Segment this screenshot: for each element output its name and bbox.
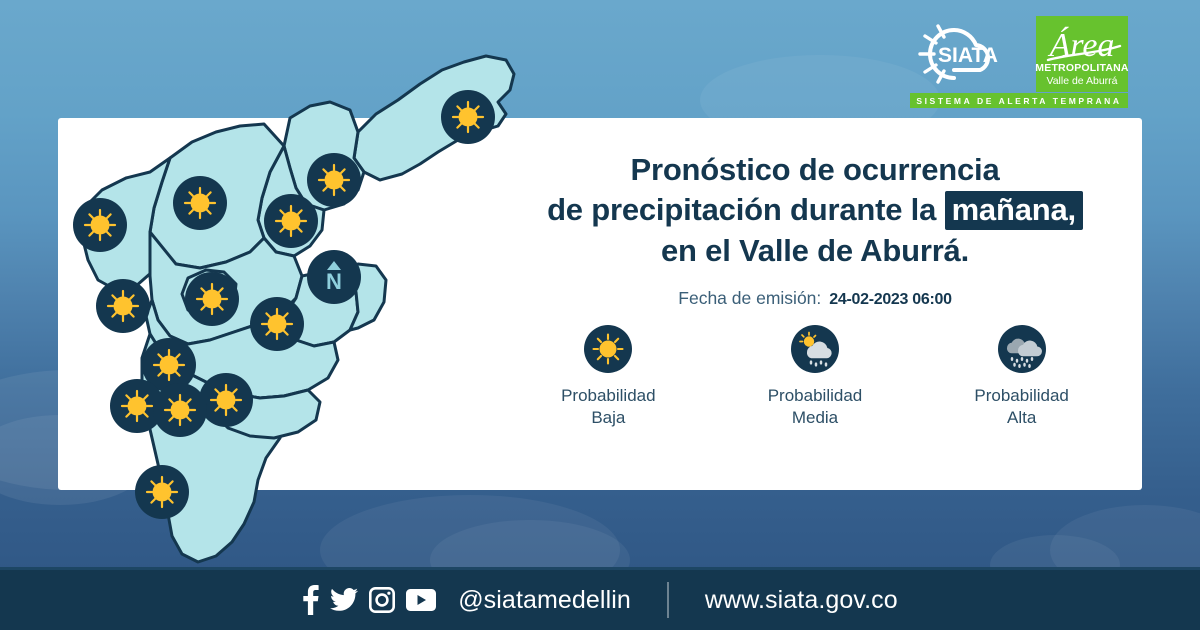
facebook-icon[interactable] <box>302 585 319 615</box>
social-handle[interactable]: @siatamedellin <box>458 586 631 615</box>
area-logo-line2: Valle de Aburrá <box>1046 75 1117 87</box>
map-marker-sun[interactable] <box>199 373 253 427</box>
instagram-icon[interactable] <box>369 587 395 613</box>
legend-label-alta: Probabilidad Alta <box>932 385 1112 430</box>
youtube-icon[interactable] <box>406 589 436 611</box>
legend-label-line2: Media <box>725 407 905 429</box>
footer-bar: @siatamedellin www.siata.gov.co <box>0 570 1200 630</box>
map-marker-sun[interactable] <box>153 383 207 437</box>
map-marker-sun[interactable] <box>264 194 318 248</box>
issue-date-label: Fecha de emisión: <box>678 288 821 309</box>
issue-date-row: Fecha de emisión: 24-02-2023 06:00 <box>505 288 1125 309</box>
legend-label-line1: Probabilidad <box>725 385 905 407</box>
probability-legend: Probabilidad Baja <box>505 325 1125 430</box>
title-line-3: en el Valle de Aburrá. <box>505 231 1125 271</box>
siata-logo: SIATA <box>910 16 1028 92</box>
social-icons-group <box>302 585 436 615</box>
map-marker-sun[interactable] <box>73 198 127 252</box>
legend-item-alta: Probabilidad Alta <box>932 325 1112 430</box>
footer-separator <box>667 582 669 618</box>
map-marker-sun[interactable] <box>441 90 495 144</box>
twitter-icon[interactable] <box>330 588 358 612</box>
page-title: Pronóstico de ocurrencia de precipitació… <box>505 150 1125 271</box>
siata-wordmark: SIATA <box>938 44 998 67</box>
sun-cloud-rain-icon <box>791 325 839 373</box>
area-script-wordmark: Área <box>1036 20 1128 68</box>
legend-label-line2: Alta <box>932 407 1112 429</box>
map-marker-sun[interactable] <box>173 176 227 230</box>
map-marker-sun[interactable] <box>250 297 304 351</box>
cloud-rain-icon <box>998 325 1046 373</box>
title-highlight: mañana, <box>945 191 1083 230</box>
valle-de-aburra-map: N <box>58 40 558 580</box>
legend-item-media: Probabilidad Media <box>725 325 905 430</box>
title-line-2: de precipitación durante la mañana, <box>505 190 1125 230</box>
website-url[interactable]: www.siata.gov.co <box>705 586 898 615</box>
title-line-1: Pronóstico de ocurrencia <box>505 150 1125 190</box>
legend-label-line1: Probabilidad <box>932 385 1112 407</box>
siata-tagline-text: SISTEMA DE ALERTA TEMPRANA <box>916 96 1121 106</box>
map-marker-sun[interactable] <box>135 465 189 519</box>
siata-tagline-bar: SISTEMA DE ALERTA TEMPRANA <box>910 93 1128 108</box>
title-line-2-text: de precipitación durante la <box>547 192 945 227</box>
forecast-text-panel: Pronóstico de ocurrencia de precipitació… <box>505 150 1125 309</box>
logo-group: SIATA Área METROPOLITANA Valle de Aburrá <box>910 16 1128 92</box>
map-marker-sun[interactable] <box>96 279 150 333</box>
issue-date-value: 24-02-2023 06:00 <box>829 291 951 309</box>
legend-label-baja: Probabilidad Baja <box>518 385 698 430</box>
legend-item-baja: Probabilidad Baja <box>518 325 698 430</box>
area-metropolitana-logo: Área METROPOLITANA Valle de Aburrá <box>1036 16 1128 92</box>
compass-rose: N <box>307 250 361 304</box>
legend-label-line2: Baja <box>518 407 698 429</box>
map-marker-sun[interactable] <box>185 272 239 326</box>
legend-label-media: Probabilidad Media <box>725 385 905 430</box>
legend-label-line1: Probabilidad <box>518 385 698 407</box>
infographic-canvas: N Pronóstico de ocurrencia de precipitac… <box>0 0 1200 630</box>
compass-label: N <box>326 271 342 293</box>
sun-icon <box>584 325 632 373</box>
